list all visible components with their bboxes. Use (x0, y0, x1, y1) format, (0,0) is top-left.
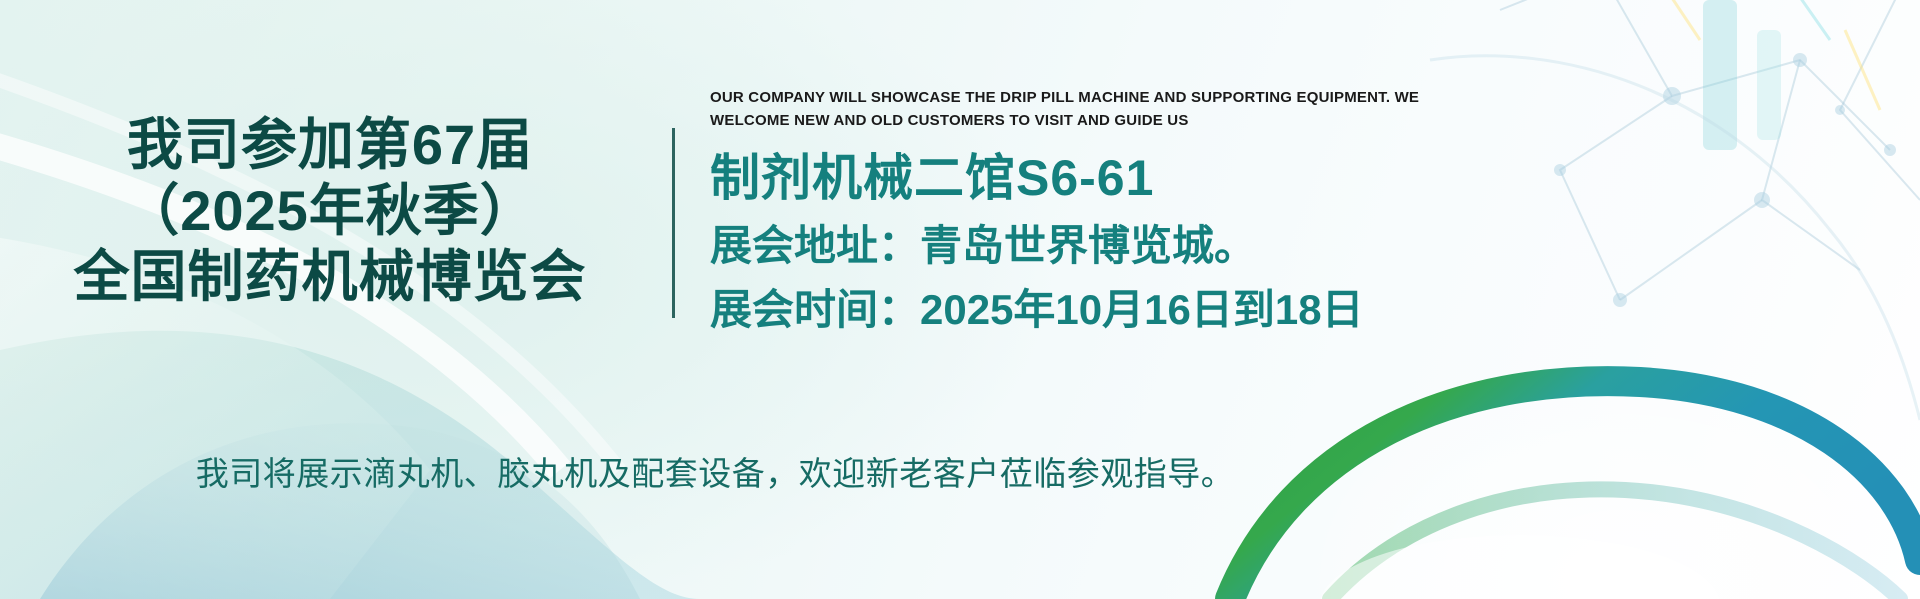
left-headline: 我司参加第67届 （2025年秋季） 全国制药机械博览会 (0, 112, 660, 310)
right-info-block: OUR COMPANY WILL SHOWCASE THE DRIP PILL … (710, 86, 1840, 334)
event-dates: 展会时间：2025年10月16日到18日 (710, 286, 1840, 334)
venue-address: 展会地址：青岛世界博览城。 (710, 222, 1840, 270)
headline-line-1: 我司参加第67届 (0, 112, 660, 178)
bottom-tagline: 我司将展示滴丸机、胶丸机及配套设备，欢迎新老客户莅临参观指导。 (0, 447, 1430, 495)
exhibition-banner: 我司参加第67届 （2025年秋季） 全国制药机械博览会 OUR COMPANY… (0, 0, 1920, 599)
headline-line-2: （2025年秋季） (0, 178, 660, 244)
english-subtitle: OUR COMPANY WILL SHOWCASE THE DRIP PILL … (710, 86, 1470, 133)
headline-line-3: 全国制药机械博览会 (0, 244, 660, 310)
vertical-divider (672, 128, 675, 318)
booth-location: 制剂机械二馆S6-61 (710, 151, 1840, 206)
